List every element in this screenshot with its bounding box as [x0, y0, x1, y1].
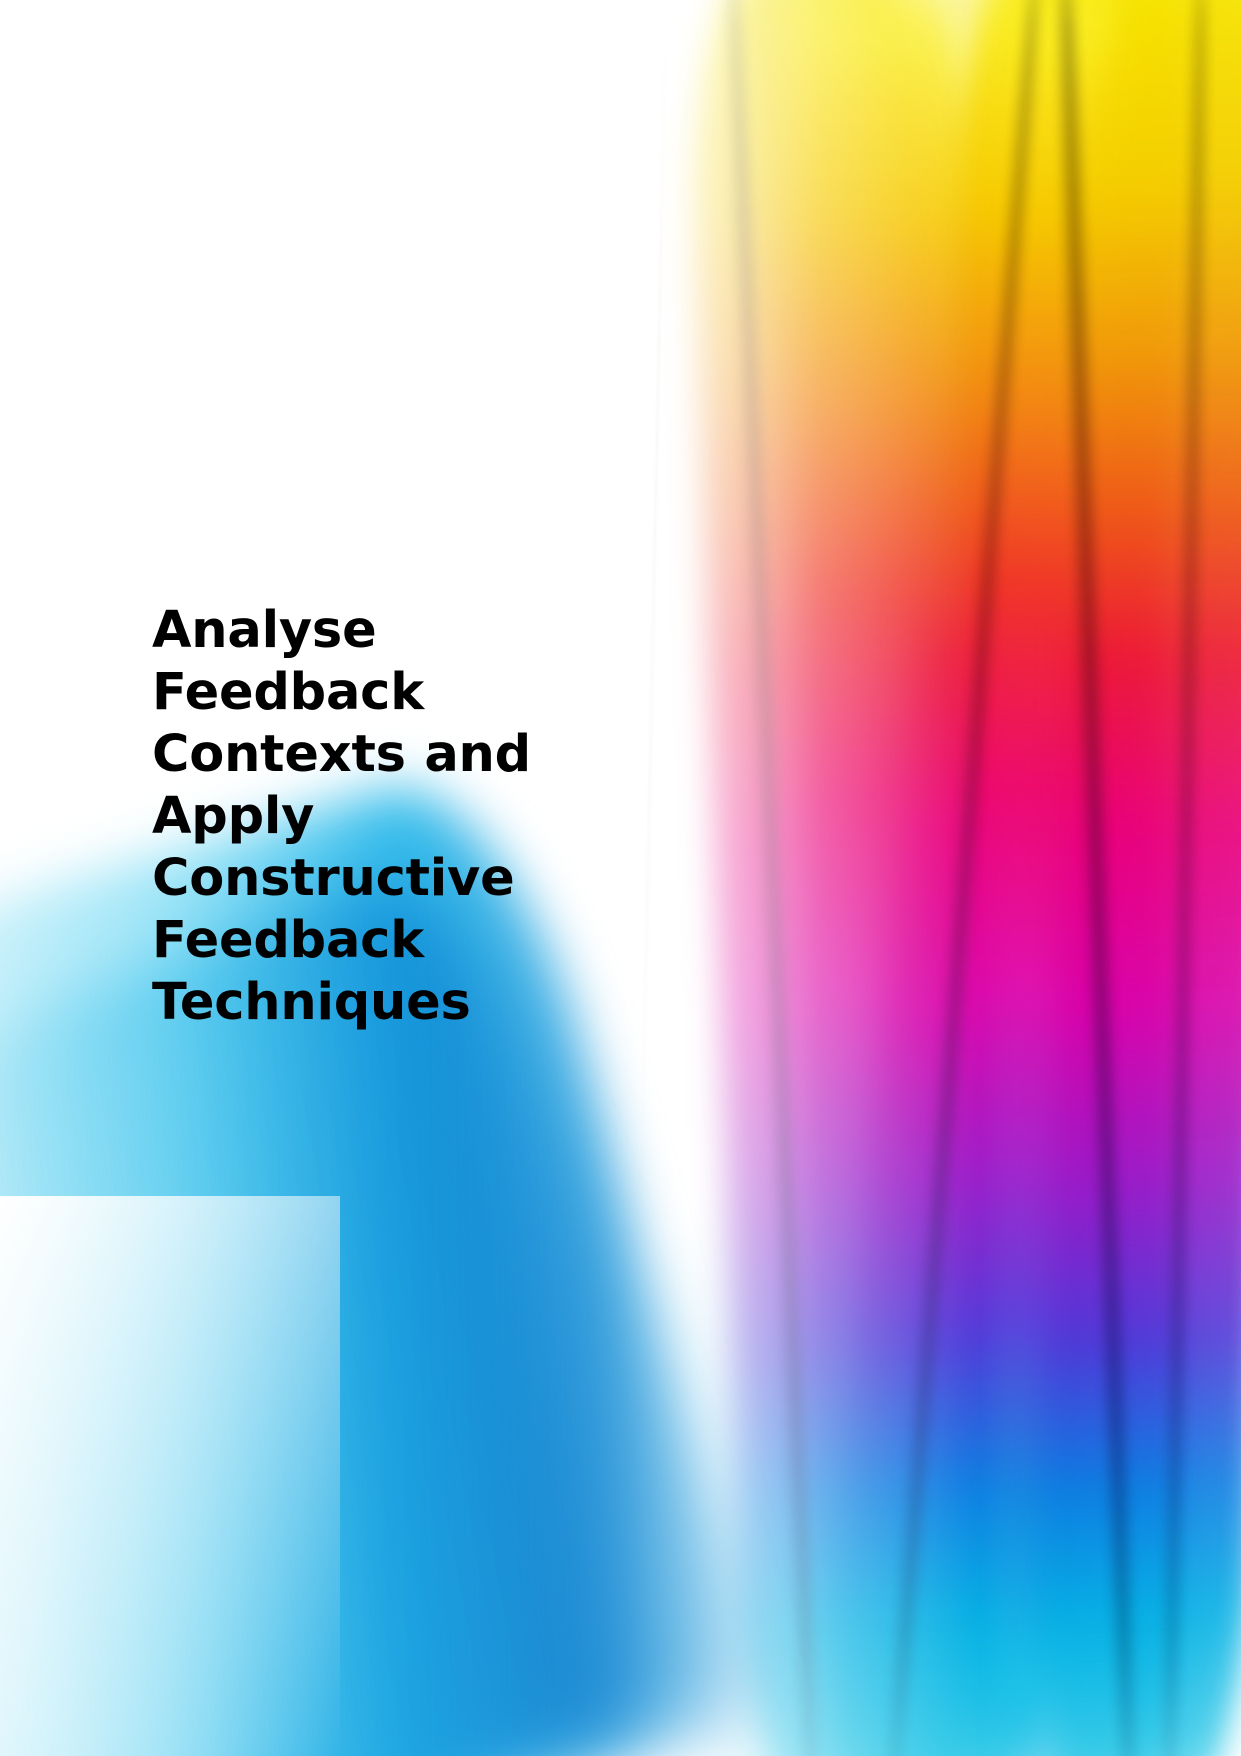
- title-block: Analyse Feedback Contexts and Apply Cons…: [152, 600, 622, 1034]
- cover-page: Analyse Feedback Contexts and Apply Cons…: [0, 0, 1241, 1756]
- page-title: Analyse Feedback Contexts and Apply Cons…: [152, 600, 622, 1034]
